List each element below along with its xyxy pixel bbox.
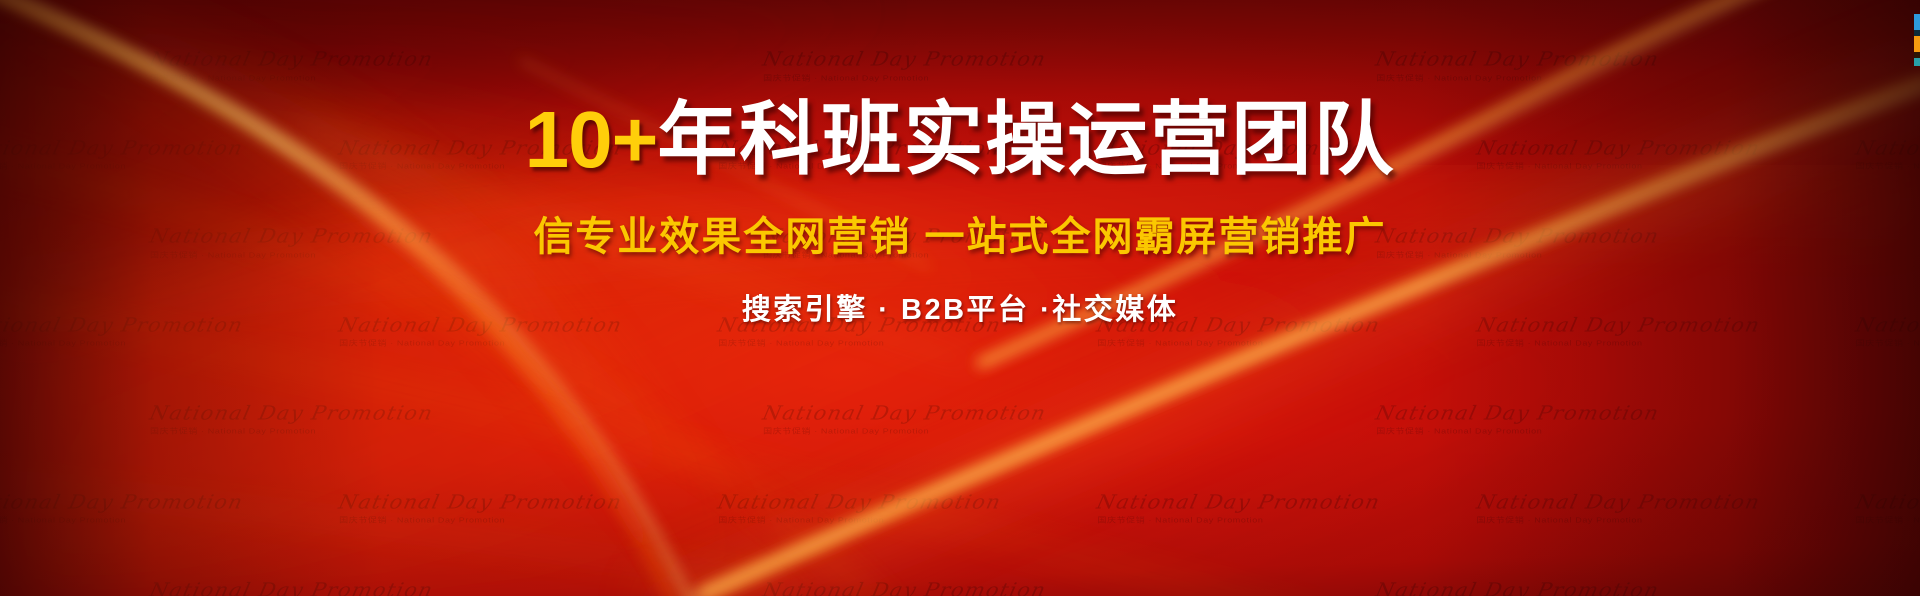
promo-banner: National Day Promotion国庆节促销 · National D… [0, 0, 1920, 596]
edge-strip-teal [1914, 58, 1920, 66]
tagline: 搜索引擎 · B2B平台 ·社交媒体 [0, 262, 1920, 328]
edge-strip-orange [1914, 36, 1920, 52]
subtitle: 信专业效果全网营销 一站式全网霸屏营销推广 [0, 180, 1920, 262]
banner-text-block: 10+年科班实操运营团队 信专业效果全网营销 一站式全网霸屏营销推广 搜索引擎 … [0, 0, 1920, 328]
edge-strip-widget[interactable] [1914, 14, 1920, 66]
edge-strip-blue [1914, 14, 1920, 30]
headline-text: 年科班实操运营团队 [657, 95, 1395, 184]
headline-number: 10+ [525, 95, 658, 184]
headline: 10+年科班实操运营团队 [0, 0, 1920, 180]
